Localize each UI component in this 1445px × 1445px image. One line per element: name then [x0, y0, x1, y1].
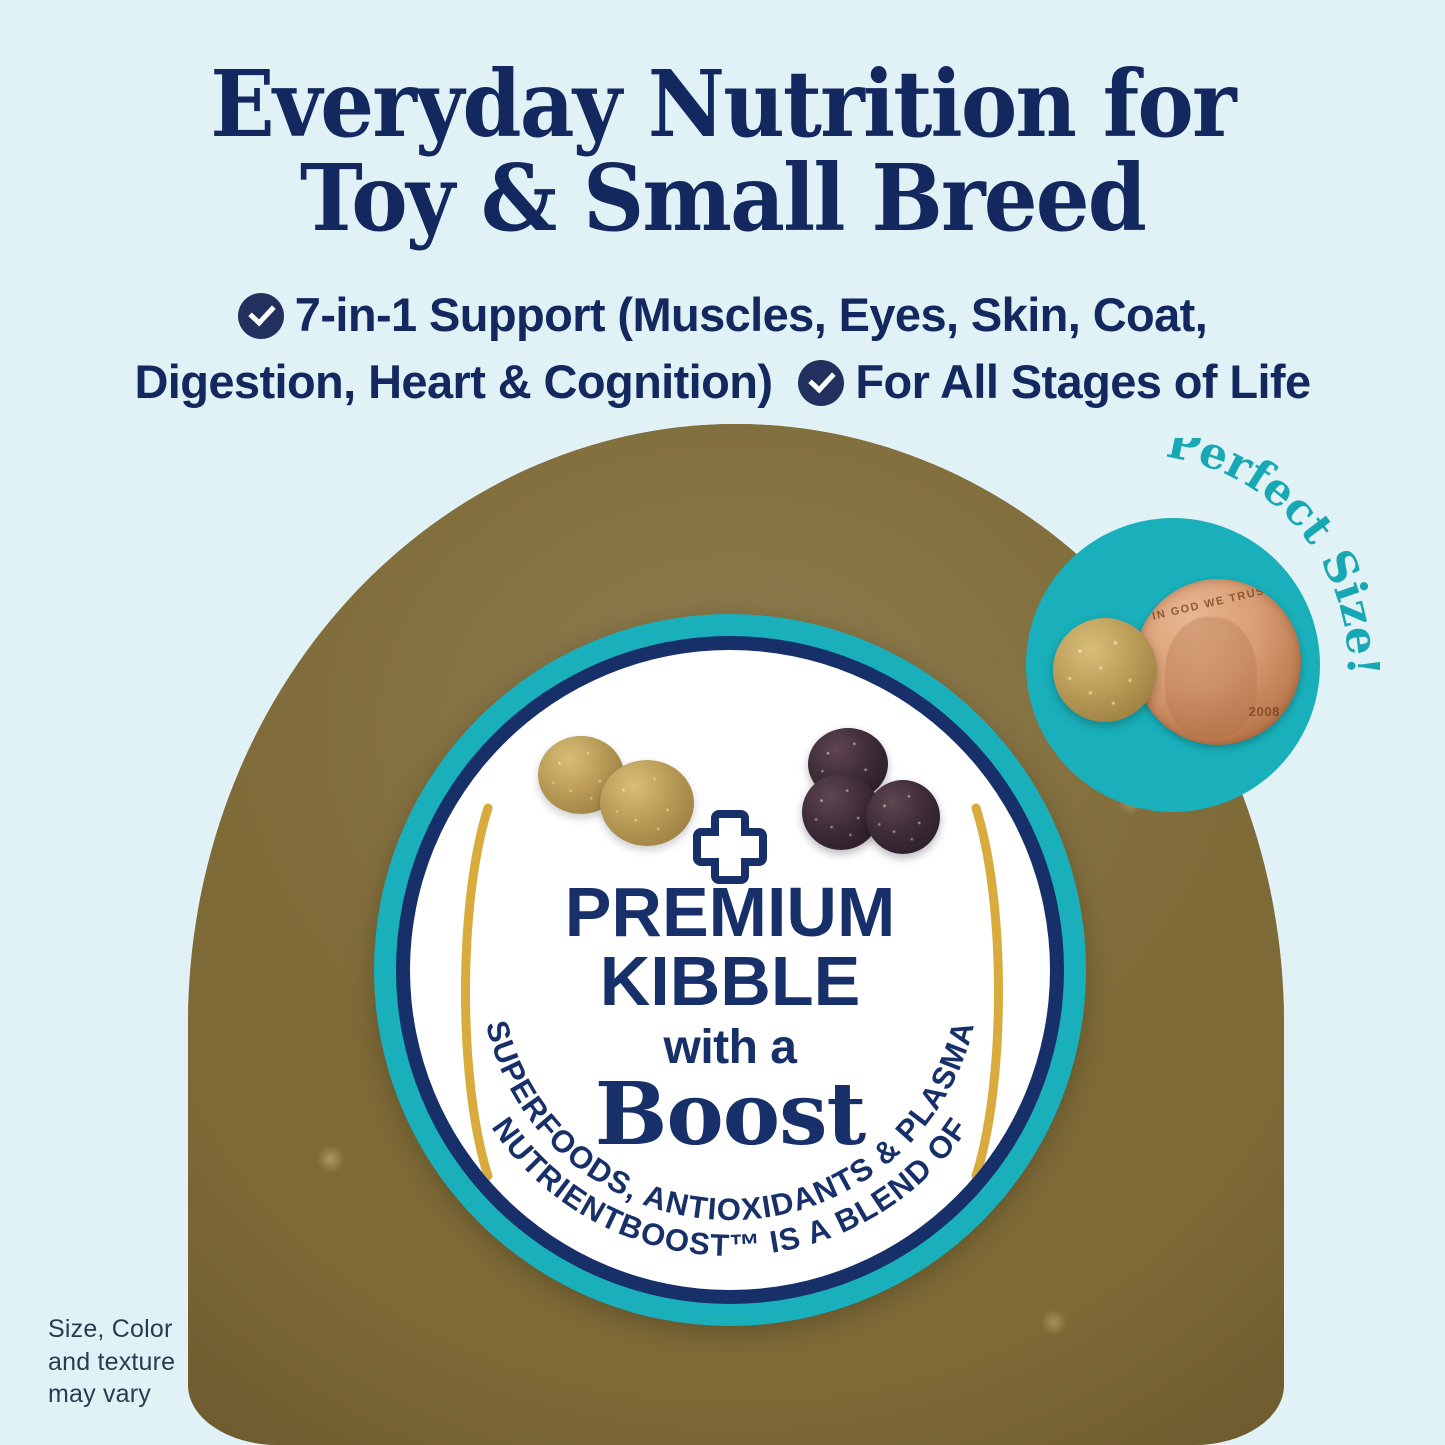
bullet-row-2: Digestion, Heart & Cognition)For All Sta…	[0, 349, 1445, 416]
kibble-piece-icon	[1053, 618, 1157, 722]
check-circle-icon	[798, 360, 844, 406]
headline-line-1: Everyday Nutrition for	[210, 50, 1234, 158]
lincoln-bust	[1165, 617, 1257, 737]
page-title: Everyday Nutrition for Toy & Small Breed	[58, 58, 1387, 246]
dark-kibble-icon	[866, 780, 940, 854]
disclaimer-line-3: may vary	[48, 1378, 175, 1411]
badge-title-line-1: PREMIUM	[410, 878, 1050, 947]
badge-wordmark: PREMIUM KIBBLE with a Boost	[410, 878, 1050, 1156]
bullet-2-label: For All Stages of Life	[855, 355, 1310, 408]
badge-emphasis: Boost	[410, 1074, 1050, 1156]
premium-kibble-badge: PREMIUM KIBBLE with a Boost NUTRIENTBOOS…	[374, 614, 1086, 1326]
headline-line-2: Toy & Small Breed	[58, 152, 1387, 246]
feature-bullets: 7-in-1 Support (Muscles, Eyes, Skin, Coa…	[0, 282, 1445, 415]
badge-face: PREMIUM KIBBLE with a Boost NUTRIENTBOOS…	[410, 650, 1050, 1290]
badge-kibble-row	[410, 722, 1050, 857]
perfect-size-badge: IN GOD WE TRUST 2008	[1026, 518, 1320, 812]
disclaimer-line-1: Size, Color	[48, 1313, 175, 1346]
disclaimer-line-2: and texture	[48, 1346, 175, 1379]
bullet-1-label-cont: Digestion, Heart & Cognition)	[134, 355, 772, 408]
tan-kibble-icon	[600, 760, 694, 846]
disclaimer-text: Size, Color and texture may vary	[48, 1313, 175, 1411]
penny-coin-icon: IN GOD WE TRUST 2008	[1135, 579, 1301, 745]
penny-year: 2008	[1249, 704, 1280, 719]
badge-title-line-2: KIBBLE	[410, 947, 1050, 1016]
bullet-1-label: 7-in-1 Support (Muscles, Eyes, Skin, Coa…	[295, 288, 1207, 341]
product-feature-image: Everyday Nutrition for Toy & Small Breed…	[0, 0, 1445, 1445]
bullet-row-1: 7-in-1 Support (Muscles, Eyes, Skin, Coa…	[0, 282, 1445, 349]
check-circle-icon	[238, 293, 284, 339]
